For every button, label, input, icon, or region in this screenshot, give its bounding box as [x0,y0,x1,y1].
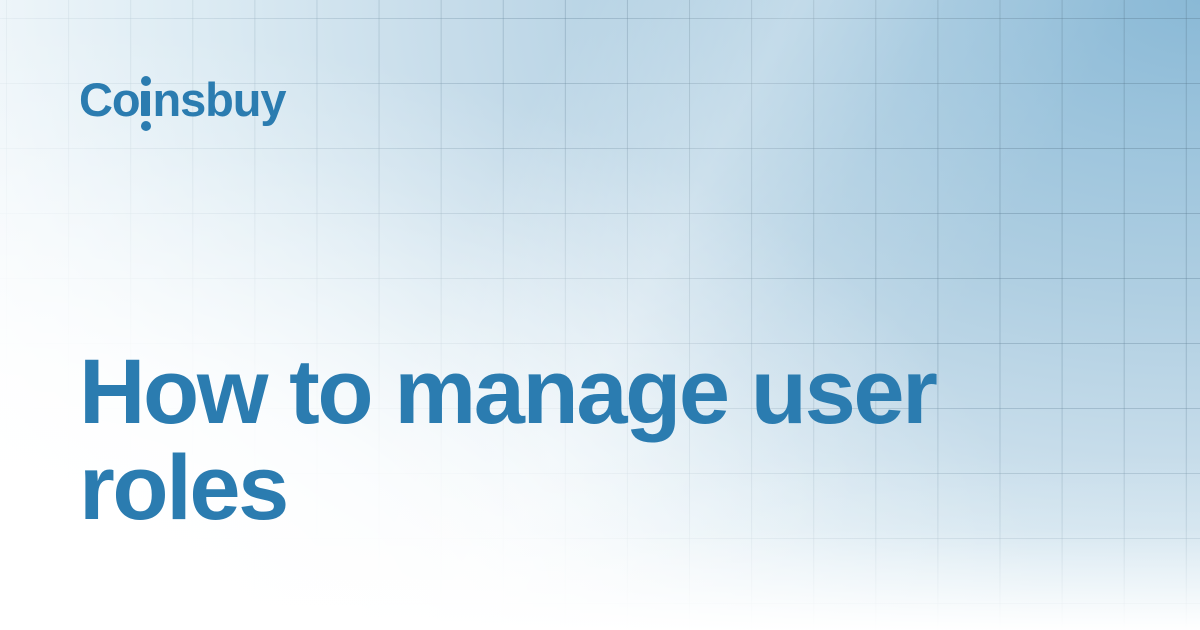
logo-i-dot-top [141,76,151,86]
logo-text-part-2: nsbuy [152,76,285,123]
logo-i-stem [141,91,150,116]
coinsbuy-logo[interactable]: Co nsbuy [79,76,285,123]
page-title: How to manage user roles [79,345,1039,536]
card-content: Co nsbuy How to manage user roles [0,0,1200,630]
logo-i-dot-bottom [141,121,151,131]
logo-letter-i-icon [140,82,151,116]
og-card: Co nsbuy How to manage user roles [0,0,1200,630]
logo-text-part-1: Co [79,76,139,123]
